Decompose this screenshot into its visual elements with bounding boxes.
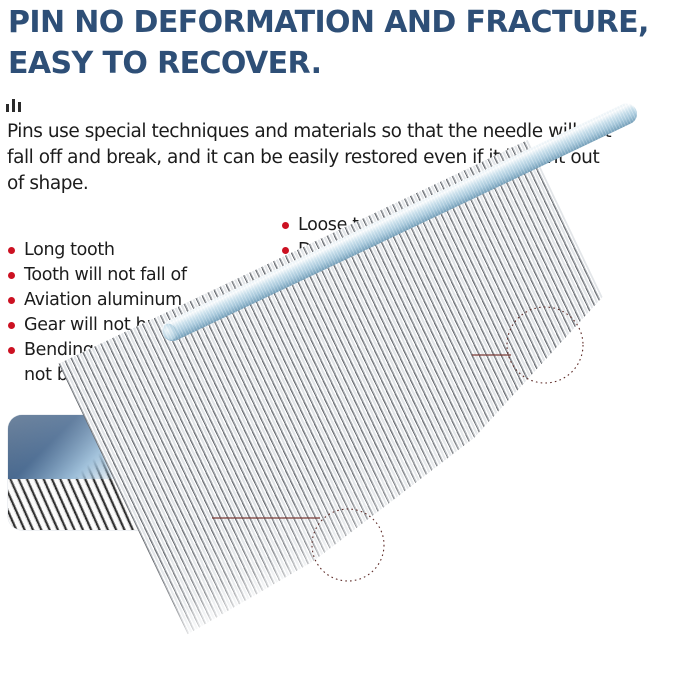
list-item: Long tooth	[7, 238, 257, 263]
bar-chart-bar-2	[12, 99, 15, 112]
bar-chart-bar-1	[6, 104, 9, 112]
list-item: Tooth will not fall of	[7, 263, 257, 288]
bar-chart-bar-3	[18, 102, 21, 112]
page-title: PIN NO DEFORMATION AND FRACTURE, EASY TO…	[8, 2, 676, 84]
bar-chart-icon	[6, 95, 30, 115]
product-photo-comb	[150, 290, 679, 676]
